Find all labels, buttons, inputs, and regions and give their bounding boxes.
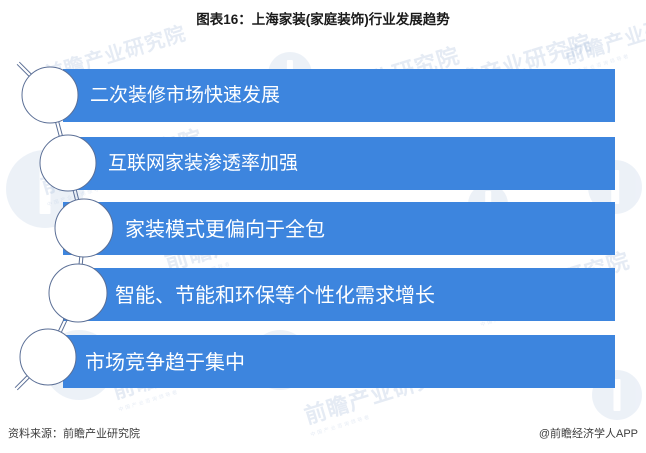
trend-bar[interactable]: 互联网家装渗透率加强 bbox=[63, 137, 615, 190]
footer: 资料来源：前瞻产业研究院 @前瞻经济学人APP bbox=[0, 425, 646, 443]
source-label: 资料来源：前瞻产业研究院 bbox=[8, 425, 140, 441]
trend-bar-label: 市场竞争趋于集中 bbox=[85, 352, 245, 372]
trend-bar-label: 互联网家装渗透率加强 bbox=[108, 154, 298, 173]
trend-bar-label: 家装模式更偏向于全包 bbox=[125, 219, 325, 239]
trend-bars-group: 二次装修市场快速发展互联网家装渗透率加强家装模式更偏向于全包智能、节能和环保等个… bbox=[0, 0, 646, 453]
trend-bar-label: 智能、节能和环保等个性化需求增长 bbox=[115, 285, 435, 305]
chart-canvas: 前瞻产业研究院 中国产业咨询领导者 前瞻产业研究院 中国产业咨询领导者 前瞻产业… bbox=[0, 0, 646, 453]
chart-title: 图表16：上海家装(家庭装饰)行业发展趋势 bbox=[0, 8, 646, 28]
trend-bar-label: 二次装修市场快速发展 bbox=[90, 86, 280, 105]
trend-bar[interactable]: 市场竞争趋于集中 bbox=[63, 335, 615, 388]
trend-bar[interactable]: 家装模式更偏向于全包 bbox=[63, 202, 615, 255]
trend-bar[interactable]: 智能、节能和环保等个性化需求增长 bbox=[63, 268, 615, 321]
brand-label: @前瞻经济学人APP bbox=[539, 425, 638, 441]
trend-bar[interactable]: 二次装修市场快速发展 bbox=[63, 69, 615, 122]
